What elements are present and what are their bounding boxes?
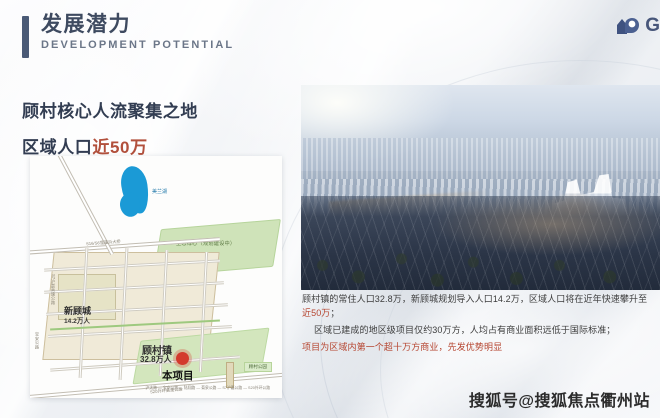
- copy-paragraph-1: 顾村镇的常住人口32.8万，新顾城规划导入人口14.2万，区域人口将在近年快速攀…: [302, 293, 654, 321]
- copy-p1-highlight: 近50万: [302, 308, 330, 318]
- lake-shape: [119, 164, 151, 215]
- lead-line-2-highlight: 近50万: [92, 138, 147, 157]
- copy-p1-tail: ；: [330, 308, 339, 318]
- copy-paragraph-3: 项目为区域内第一个超十万方商业，先发优势明显: [302, 341, 654, 355]
- road-label-left: S7沪崇高速公路: [50, 274, 56, 304]
- lead-headline: 顾村核心人流聚集之地 区域人口近50万: [22, 97, 198, 158]
- brand-logo: G: [616, 16, 660, 35]
- logo-letter: G: [645, 16, 660, 35]
- map-label-new-town-population: 14.2万人: [64, 315, 90, 325]
- district-map-card: 美兰湖 生态绿心（规划建设中） S16/S6蕰藻浜大桥 S7沪崇高速公路 S20…: [30, 156, 282, 398]
- page-title: 发展潜力: [41, 14, 234, 36]
- slide-header: 发展潜力 DEVELOPMENT POTENTIAL: [22, 14, 234, 58]
- source-watermark: 搜狐号@搜狐焦点衢州站: [469, 387, 650, 411]
- lead-line-2: 区域人口近50万: [22, 133, 198, 158]
- page-subtitle: DEVELOPMENT POTENTIAL: [41, 39, 234, 51]
- map-legend-lines: 沪太路 — 宝安公路 — 陆翔路 — 菊泉公路 — S7沪嘉公路 — S20外环…: [146, 386, 270, 392]
- lead-line-1: 顾村核心人流聚集之地: [22, 97, 198, 122]
- project-location-marker: [176, 352, 189, 365]
- copy-p1-text: 顾村镇的常住人口32.8万，新顾城规划导入人口14.2万，区域人口将在近年快速攀…: [302, 294, 647, 304]
- header-accent-bar: [22, 16, 29, 58]
- road-label-west: 宝安公路: [34, 332, 40, 349]
- body-copy: 顾村镇的常住人口32.8万，新顾城规划导入人口14.2万，区域人口将在近年快速攀…: [302, 293, 654, 355]
- map-legend-park: 顾村公园: [244, 362, 272, 372]
- copy-paragraph-2: 区域已建成的地区级项目仅约30万方，人均占有商业面积远低于国际标准；: [302, 324, 654, 338]
- photo-tree-canopy: [301, 208, 660, 290]
- map-label-project: 本项目: [162, 368, 194, 383]
- house-logo-icon: [616, 16, 640, 35]
- aerial-cityscape-render: [301, 85, 660, 290]
- lead-line-2-prefix: 区域人口: [22, 138, 92, 157]
- district-map: 美兰湖 生态绿心（规划建设中） S16/S6蕰藻浜大桥 S7沪崇高速公路 S20…: [30, 156, 282, 398]
- slide-canvas: 发展潜力 DEVELOPMENT POTENTIAL G 顾村核心人流聚集之地 …: [0, 0, 660, 418]
- map-label-town-population: 32.8万人: [140, 354, 172, 365]
- lake-label: 美兰湖: [152, 188, 167, 195]
- project-pin-strip: [226, 362, 234, 388]
